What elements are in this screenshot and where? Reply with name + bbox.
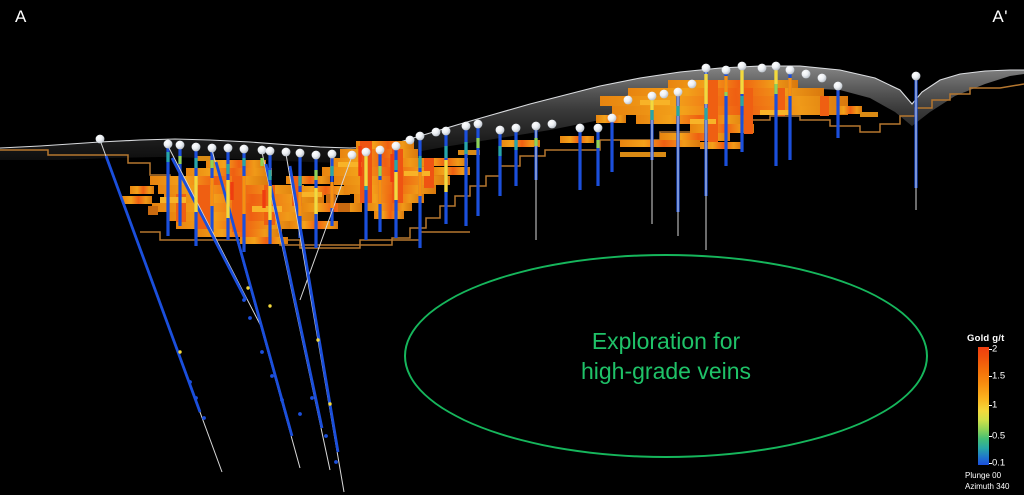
cross-section-viewport: A A' Exploration for high-grade veins Go… [0, 0, 1024, 495]
grade-colorbar [978, 347, 989, 465]
annotation-text: Exploration for high-grade veins [581, 326, 751, 387]
colorbar-tick-label: 1.5 [992, 371, 1005, 381]
grade-legend: Gold g/t 2 1.5 1 0.5 0.1 Plunge 00 Azimu… [963, 333, 1023, 491]
section-label-a: A [15, 8, 27, 25]
colorbar-tick-label: 0.1 [992, 458, 1005, 468]
colorbar-tick-label: 1 [992, 400, 997, 410]
colorbar-tick-label: 0.5 [992, 431, 1005, 441]
annotation-ellipse: Exploration for high-grade veins [404, 254, 928, 458]
colorbar-tick-label: 2 [992, 344, 997, 354]
orientation-text: Plunge 00 Azimuth 340 [965, 471, 1009, 493]
legend-title: Gold g/t [967, 333, 1004, 344]
section-label-a-prime: A' [992, 8, 1008, 25]
